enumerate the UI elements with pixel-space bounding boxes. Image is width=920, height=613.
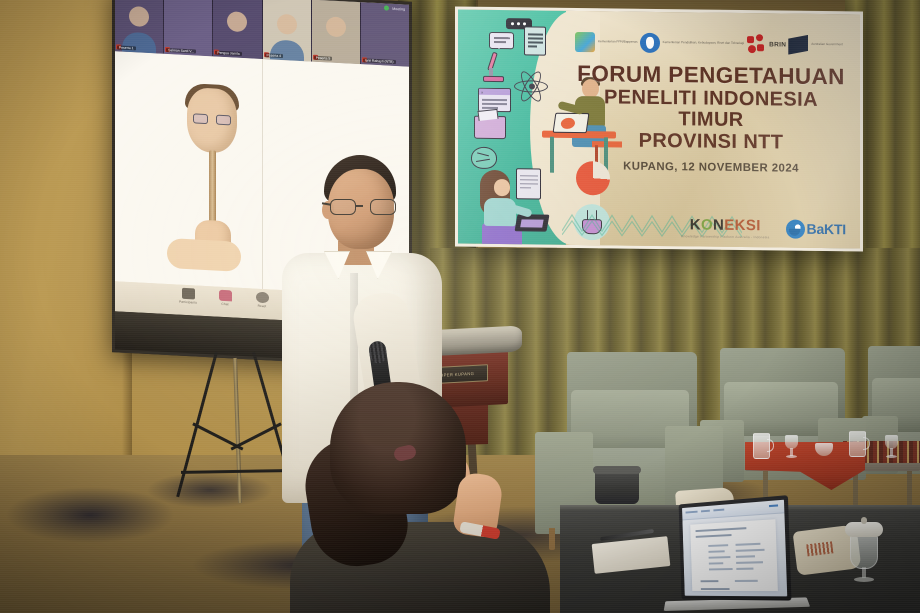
goblet xyxy=(785,435,798,460)
koneksi-logo-text: KONEKSI xyxy=(681,216,769,234)
eyeglasses-icon xyxy=(330,199,394,215)
koneksi-logo: KONEKSI Knowledge Partnership Platform A… xyxy=(681,216,769,239)
glass-cover xyxy=(845,522,883,537)
laptop-lid xyxy=(679,495,792,600)
microscope-icon xyxy=(480,52,506,82)
gallery-tile[interactable]: Peserta 5 xyxy=(312,0,360,64)
open-laptop[interactable] xyxy=(665,500,815,613)
bakti-logo: BaKTI xyxy=(786,219,846,239)
laptop-screen[interactable] xyxy=(682,500,787,597)
bappenas-logo: Kementerian PPN/Bappenas xyxy=(575,32,638,53)
banner-title-line3: PROVINSI NTT xyxy=(570,130,852,154)
gallery-tile[interactable]: Peserta 1 xyxy=(115,0,163,54)
chat-button[interactable]: Chat xyxy=(212,289,238,306)
brain-icon xyxy=(471,147,497,169)
participant-body xyxy=(122,32,156,54)
eyeglasses-icon xyxy=(193,114,231,126)
document-page xyxy=(690,519,778,591)
kemendikbud-mark-icon xyxy=(640,33,660,53)
bakti-logo-text: BaKTI xyxy=(807,221,846,237)
goblet xyxy=(885,435,898,460)
gallery-tile[interactable]: Peserta 4 xyxy=(263,0,311,62)
participant-name: Peserta 1 xyxy=(117,45,136,50)
participant-avatar xyxy=(227,11,247,32)
bappenas-logo-sub: Kementerian PPN/Bappenas xyxy=(598,41,638,45)
participant-name: Isnit Rahayti (NTB) xyxy=(363,58,396,64)
ice-bucket xyxy=(595,470,639,504)
australia-logo-sub: Australian Government xyxy=(811,43,843,47)
kemendikbud-logo-sub: Kementerian Pendidikan, Kebudayaan, Rise… xyxy=(663,41,744,45)
participant-name: Salman Santi V... xyxy=(166,48,196,54)
foreground-attendee xyxy=(290,382,550,613)
participant-name: Peserta 4 xyxy=(265,53,284,58)
banner-illustration-panel: × xyxy=(458,10,566,245)
chat-label: Chat xyxy=(212,301,238,306)
kemendikbud-logo: Kementerian Pendidikan, Kebudayaan, Rise… xyxy=(640,33,744,54)
recording-indicator-icon xyxy=(384,5,389,10)
banner-top-logo-row: Kementerian PPN/Bappenas Kementerian Pen… xyxy=(574,25,844,62)
brin-mark-icon xyxy=(746,34,766,54)
brin-logo-text: BRIN xyxy=(769,41,786,48)
bappenas-mark-icon xyxy=(575,32,595,52)
participants-button[interactable]: Participants xyxy=(175,287,201,304)
participant-avatar xyxy=(277,14,297,35)
event-banner: × xyxy=(455,7,863,252)
participants-label: Participants xyxy=(175,299,201,304)
meeting-status-bar: Meeting xyxy=(384,5,405,11)
water-pitcher xyxy=(753,433,770,459)
banner-bottom-logo-row: KONEKSI Knowledge Partnership Platform A… xyxy=(681,216,846,240)
gallery-tile[interactable]: Pengsa Jamila xyxy=(213,0,261,59)
koneksi-logo-sub: Knowledge Partnership Platform Australia… xyxy=(681,234,769,239)
react-icon xyxy=(256,292,269,304)
australia-logo: Australian Government xyxy=(788,35,843,56)
bakti-mark-icon xyxy=(786,219,805,238)
participant-avatar xyxy=(326,16,346,37)
document-icon xyxy=(524,26,546,55)
banner-title-line2: PENELITI INDONESIA TIMUR xyxy=(570,87,852,132)
participant-name: Peserta 5 xyxy=(314,56,333,61)
woman-with-laptop-illustration xyxy=(468,170,552,252)
handheld-object xyxy=(209,150,216,228)
shared-video-person xyxy=(179,87,245,176)
document-toolbar[interactable] xyxy=(682,500,784,521)
speech-bubble-icon xyxy=(489,32,514,49)
australia-coat-of-arms-icon xyxy=(788,35,808,55)
brin-logo: BRIN xyxy=(746,34,786,54)
participant-body xyxy=(270,39,304,61)
gallery-tile[interactable]: Isnit Rahayti (NTB) xyxy=(361,2,409,67)
participants-icon xyxy=(182,288,195,300)
banner-title-line1: FORUM PENGETAHUAN xyxy=(570,63,852,89)
participant-avatar xyxy=(129,6,149,27)
meeting-status-label: Meeting xyxy=(392,6,405,11)
participant-name: Pengsa Jamila xyxy=(215,51,241,56)
chat-icon xyxy=(219,290,232,302)
shared-pane-left xyxy=(115,51,263,289)
water-pitcher xyxy=(849,431,866,457)
folder-icon xyxy=(474,116,506,139)
gallery-tile[interactable]: Salman Santi V... xyxy=(164,0,212,56)
conference-room-scene: Peserta 1 Salman Santi V... Pengsa Jamil… xyxy=(0,0,920,613)
banner-title-block: FORUM PENGETAHUAN PENELITI INDONESIA TIM… xyxy=(570,63,852,175)
person-arm xyxy=(167,238,241,272)
covered-water-glass xyxy=(845,522,883,584)
